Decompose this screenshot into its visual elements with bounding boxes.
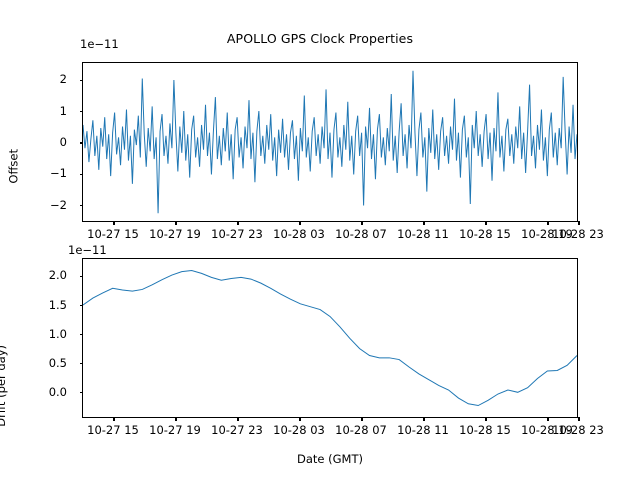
offset-x-tick-mark: [175, 221, 176, 225]
offset-x-tick-mark: [578, 221, 579, 225]
drift-x-tick-mark: [299, 417, 300, 421]
drift-trace-clip: [83, 259, 577, 417]
offset-x-tick-label: 10-28 15: [459, 227, 511, 241]
drift-x-tick-mark: [237, 417, 238, 421]
drift-x-tick-label: 10-27 19: [149, 423, 201, 437]
drift-x-tick-mark: [175, 417, 176, 421]
drift-y-tick-label: 0.0: [49, 385, 74, 399]
offset-x-tick-label: 10-28 23: [552, 227, 604, 241]
x-axis-label: Date (GMT): [82, 452, 578, 466]
offset-y-tick-label: −1: [50, 166, 74, 180]
drift-x-tick-mark: [113, 417, 114, 421]
offset-x-tick-mark: [547, 221, 548, 225]
drift-x-tick-mark: [423, 417, 424, 421]
offset-y-tick-mark: [80, 205, 84, 206]
drift-y-tick-mark: [80, 334, 84, 335]
drift-x-tick-label: 10-27 15: [87, 423, 139, 437]
offset-axis-scale-label: 1e−11: [80, 37, 119, 51]
matplotlib-figure: APOLLO GPS Clock Properties 1e−11 Offset…: [0, 0, 640, 480]
offset-x-tick-label: 10-28 07: [335, 227, 387, 241]
offset-y-axis-label: Offset: [6, 149, 20, 184]
offset-x-tick-label: 10-27 15: [87, 227, 139, 241]
drift-x-tick-label: 10-28 11: [397, 423, 449, 437]
offset-y-tick-mark: [80, 111, 84, 112]
drift-y-tick-mark: [80, 392, 84, 393]
offset-x-tick-label: 10-28 11: [397, 227, 449, 241]
offset-data-line: [83, 71, 577, 214]
offset-trace-svg: [83, 63, 577, 221]
offset-x-tick-mark: [237, 221, 238, 225]
drift-x-tick-label: 10-28 03: [273, 423, 325, 437]
offset-x-tick-mark: [299, 221, 300, 225]
drift-x-tick-label: 10-28 23: [552, 423, 604, 437]
offset-plot-area: [82, 62, 578, 222]
offset-y-tick-mark: [80, 142, 84, 143]
drift-y-tick-label: 1.5: [49, 298, 74, 312]
drift-x-tick-mark: [578, 417, 579, 421]
offset-y-tick-mark: [80, 174, 84, 175]
offset-y-tick-label: 1: [60, 104, 74, 118]
offset-x-tick-mark: [485, 221, 486, 225]
drift-y-tick-label: 2.0: [49, 268, 74, 282]
drift-x-tick-mark: [547, 417, 548, 421]
drift-y-tick-label: 1.0: [49, 327, 74, 341]
offset-trace-clip: [83, 63, 577, 221]
offset-y-tick-mark: [80, 80, 84, 81]
offset-y-tick-label: 2: [60, 72, 74, 86]
drift-axis-scale-label: 1e−11: [68, 243, 107, 257]
offset-x-tick-mark: [423, 221, 424, 225]
drift-x-tick-mark: [485, 417, 486, 421]
drift-y-tick-mark: [80, 363, 84, 364]
drift-x-tick-mark: [361, 417, 362, 421]
offset-y-tick-label: −2: [50, 198, 74, 212]
offset-y-tick-label: 0: [60, 135, 74, 149]
drift-y-tick-mark: [80, 305, 84, 306]
drift-plot-area: [82, 258, 578, 418]
drift-y-tick-mark: [80, 276, 84, 277]
drift-data-line: [83, 270, 577, 405]
offset-x-tick-label: 10-27 19: [149, 227, 201, 241]
offset-x-tick-label: 10-28 03: [273, 227, 325, 241]
drift-x-tick-label: 10-27 23: [211, 423, 263, 437]
offset-x-tick-mark: [113, 221, 114, 225]
drift-x-tick-label: 10-28 15: [459, 423, 511, 437]
offset-x-tick-mark: [361, 221, 362, 225]
drift-y-tick-label: 0.5: [49, 356, 74, 370]
drift-x-tick-label: 10-28 07: [335, 423, 387, 437]
drift-y-axis-label: Drift (per day): [0, 345, 8, 427]
drift-trace-svg: [83, 259, 577, 417]
offset-x-tick-label: 10-27 23: [211, 227, 263, 241]
